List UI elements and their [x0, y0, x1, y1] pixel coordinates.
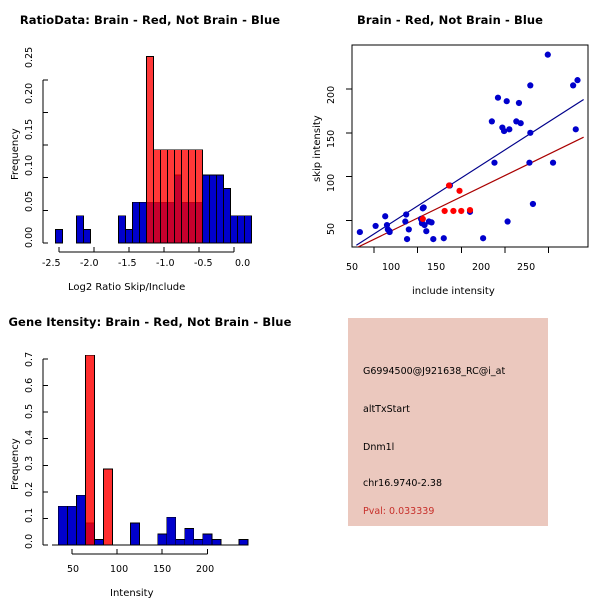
panel-ratio-histogram: RatioData: Brain - Red, Not Brain - Blue… [0, 0, 300, 300]
scatter-point [489, 118, 495, 124]
histogram-bar [182, 150, 189, 243]
histogram-bar [212, 539, 221, 545]
scatter-point [491, 160, 497, 166]
gene-bars [58, 355, 248, 545]
histogram-bar [161, 150, 168, 243]
scatter-point [420, 216, 426, 222]
histogram-bar [217, 175, 224, 243]
scatter-point [518, 120, 524, 126]
histogram-bar [189, 150, 196, 243]
histogram-bar [140, 202, 147, 243]
scatter-point [467, 207, 473, 213]
scatter-point [458, 208, 464, 214]
scatter-point [573, 126, 579, 132]
histogram-bar [203, 534, 212, 545]
scatter-point [450, 208, 456, 214]
scatter-point [456, 188, 462, 194]
histogram-bar [210, 175, 217, 243]
scatter-fit-lines [356, 99, 583, 247]
scatter-point [386, 229, 392, 235]
panel-intensity-scatter: Brain - Red, Not Brain - Blue skip inten… [300, 0, 600, 300]
gene-histogram-plot [0, 300, 300, 600]
scatter-point [428, 219, 434, 225]
histogram-bar [231, 216, 238, 243]
figure-canvas: RatioData: Brain - Red, Not Brain - Blue… [0, 0, 600, 600]
histogram-bar [77, 216, 84, 243]
scatter-point [504, 218, 510, 224]
histogram-bar [84, 229, 91, 243]
panel-gene-intensity-histogram: Gene Itensity: Brain - Red, Not Brain - … [0, 300, 300, 600]
histogram-bar [185, 528, 194, 545]
scatter-point [402, 218, 408, 224]
histogram-bar [147, 57, 154, 243]
scatter-point [570, 82, 576, 88]
scatter-point [406, 226, 412, 232]
histogram-bar [76, 495, 85, 545]
histogram-bar [94, 539, 103, 545]
histogram-bar [175, 150, 182, 243]
histogram-bar [126, 229, 133, 243]
histogram-bar [245, 216, 252, 243]
histogram-bar [131, 523, 140, 545]
scatter-point [441, 235, 447, 241]
histogram-bar [56, 229, 63, 243]
histogram-bar [58, 506, 67, 545]
scatter-point [516, 100, 522, 106]
scatter-point [480, 235, 486, 241]
histogram-bar [238, 216, 245, 243]
scatter-point [501, 128, 507, 134]
scatter-point [526, 160, 532, 166]
ratio-y-axis [43, 80, 48, 243]
probe-id-text: G6994500@J921638_RC@i_at [363, 366, 505, 377]
scatter-point [550, 160, 556, 166]
scatter-point [404, 236, 410, 242]
intensity-scatter-plot [300, 0, 600, 300]
histogram-bar [194, 539, 203, 545]
histogram-bar [133, 202, 140, 243]
ratio-bars [56, 57, 252, 243]
histogram-bar [203, 175, 210, 243]
ratio-x-axis [59, 247, 234, 252]
scatter-point [373, 223, 379, 229]
scatter-point [423, 228, 429, 234]
scatter-point [357, 229, 363, 235]
histogram-bar [196, 150, 203, 243]
histogram-bar [119, 216, 126, 243]
scatter-point [403, 211, 409, 217]
ratio-histogram-plot [0, 0, 300, 300]
histogram-bar [167, 517, 176, 545]
scatter-point [504, 98, 510, 104]
histogram-bar [85, 355, 94, 545]
scatter-point [495, 95, 501, 101]
histogram-bar [168, 150, 175, 243]
histogram-bar [158, 534, 167, 545]
event-type-text: altTxStart [363, 404, 410, 415]
scatter-point [527, 130, 533, 136]
scatter-point [574, 77, 580, 83]
scatter-point [430, 236, 436, 242]
histogram-bar [224, 189, 231, 243]
scatter-point [527, 82, 533, 88]
scatter-point [421, 204, 427, 210]
scatter-point [446, 182, 452, 188]
fit-line [356, 99, 583, 245]
pval-text: Pval: 0.033339 [363, 506, 434, 517]
histogram-bar [176, 539, 185, 545]
histogram-bar [103, 469, 112, 545]
probe-info-box: G6994500@J921638_RC@i_at altTxStart Dnm1… [348, 318, 548, 526]
scatter-point [506, 126, 512, 132]
histogram-bar [239, 539, 248, 545]
panel-probe-info: G6994500@J921638_RC@i_at altTxStart Dnm1… [300, 300, 600, 600]
histogram-bar [154, 150, 161, 243]
gene-symbol-text: Dnm1l [363, 442, 394, 453]
scatter-point [530, 201, 536, 207]
scatter-point [545, 52, 551, 58]
histogram-bar [67, 506, 76, 545]
scatter-point [382, 213, 388, 219]
scatter-points [357, 52, 581, 243]
scatter-point [442, 208, 448, 214]
locus-text: chr16.9740-2.38 [363, 478, 442, 489]
